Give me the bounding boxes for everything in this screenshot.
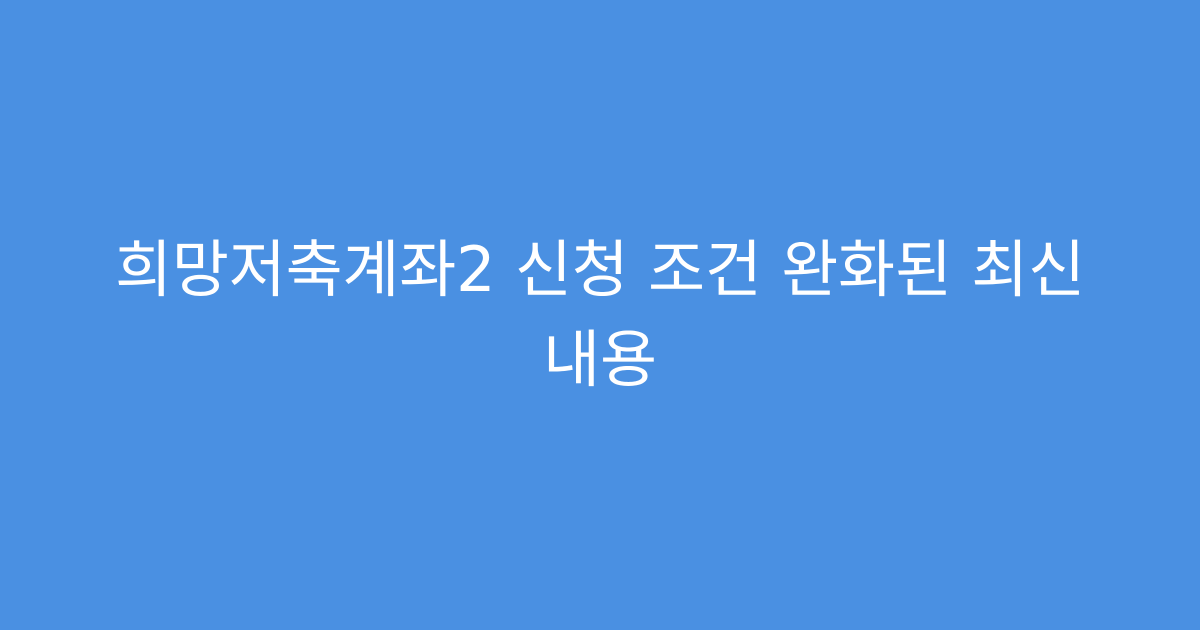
share-card: 희망저축계좌2 신청 조건 완화된 최신 내용 [0, 0, 1200, 630]
page-title: 희망저축계좌2 신청 조건 완화된 최신 내용 [64, 225, 1136, 405]
share-card-content: 희망저축계좌2 신청 조건 완화된 최신 내용 [0, 225, 1200, 405]
